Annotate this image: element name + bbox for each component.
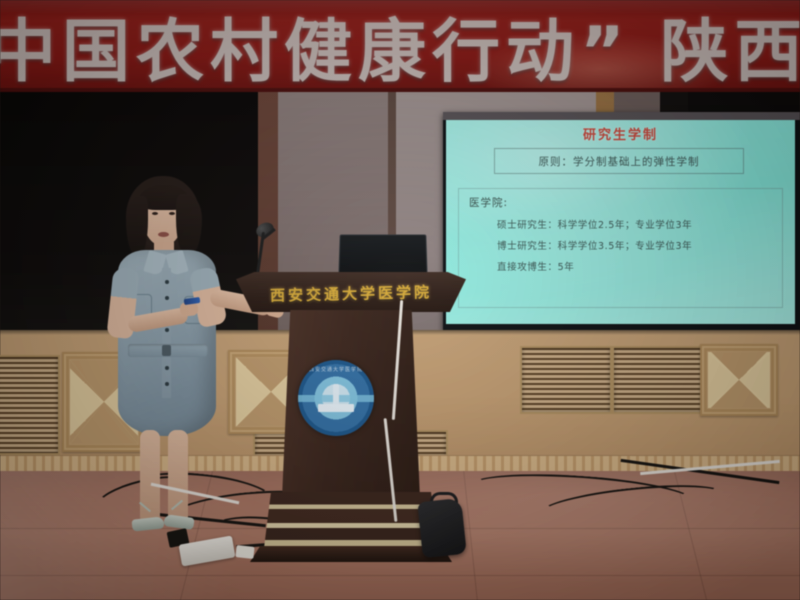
lectern-stripes: [264, 492, 438, 548]
dress-button-1: [165, 280, 169, 284]
projection-screen: 研究生学制 原则：学分制基础上的弹性学制 医学院: 硕士研究生：科学学位2.5年…: [446, 120, 795, 324]
university-emblem-icon: 西安交通大学医学院: [298, 360, 374, 436]
slide-title: 研究生学制: [446, 124, 795, 143]
belt-buckle: [162, 345, 171, 356]
slide-body-box: 医学院: 硕士研究生：科学学位2.5年；专业学位3年 博士研究生：科学学位3.5…: [458, 188, 783, 308]
slide-principle-box: 原则：学分制基础上的弹性学制: [494, 148, 744, 174]
wall-vent-right-1: [520, 346, 612, 414]
slide-body-line-2: 博士研究生：科学学位3.5年；专业学位3年: [497, 238, 772, 252]
event-banner: 中国农村健康行动” 陕西省: [0, 0, 800, 92]
mouth: [158, 232, 169, 237]
power-adapter: [235, 545, 254, 559]
eye-right: [169, 212, 175, 215]
leg-left: [140, 430, 160, 522]
sandal-left: [131, 516, 164, 531]
sandal-right: [163, 514, 194, 530]
wall-vent-left: [0, 355, 60, 455]
hair-left: [126, 196, 148, 256]
emblem-arc-text: 西安交通大学医学院: [306, 366, 367, 378]
banner-bottom-edge: [0, 88, 800, 92]
presentation-photo: 中国农村健康行动” 陕西省 研究生学制 原则：学分制基础上的弹性学制 医学院: …: [0, 0, 800, 600]
dress-button-5: [165, 366, 169, 370]
dress-button-4: [165, 328, 169, 332]
emblem-book: [318, 404, 354, 412]
slide-body-heading: 医学院:: [469, 195, 772, 210]
dress-button-6: [165, 382, 169, 386]
wall-vent-right-2: [612, 346, 704, 414]
dress-placket: [162, 268, 171, 398]
banner-text: 中国农村健康行动” 陕西省: [0, 4, 800, 86]
hair-right: [176, 194, 202, 256]
slide-principle-text: 原则：学分制基础上的弹性学制: [539, 154, 700, 169]
lectern-engraved-text: 西安交通大学医学院: [260, 280, 442, 306]
slide-body-line-1: 硕士研究生：科学学位2.5年；专业学位3年: [497, 217, 772, 231]
emblem-stem: [333, 384, 339, 405]
black-bag: [417, 498, 467, 558]
dress-button-2: [165, 296, 169, 300]
projection-screen-top-band: [443, 112, 800, 120]
slide-body-line-3: 直接攻博生：5年: [497, 259, 772, 273]
decorative-panel-right: [700, 344, 778, 416]
eye-left: [152, 212, 158, 215]
